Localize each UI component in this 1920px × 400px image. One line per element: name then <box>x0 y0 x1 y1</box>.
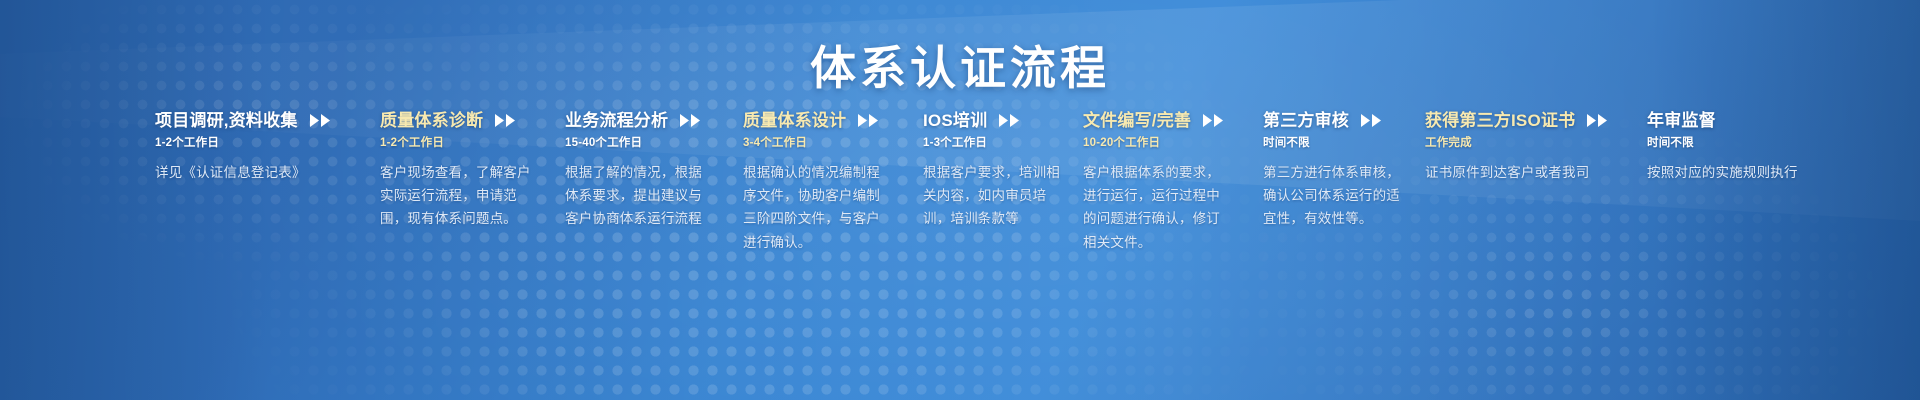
step-9-duration: 时间不限 <box>1647 134 1843 150</box>
step-4-header: 质量体系设计 <box>743 112 919 129</box>
certification-process-banner: 体系认证流程 项目调研,资料收集 1-2个工作日 详见《认证信息登记表》 质量体… <box>0 0 1920 400</box>
step-9-description: 按照对应的实施规则执行 <box>1647 161 1817 184</box>
page-title: 体系认证流程 <box>0 32 1920 98</box>
step-7-header: 第三方审核 <box>1263 112 1421 129</box>
step-3-duration: 15-40个工作日 <box>565 134 739 150</box>
step-3-description: 根据了解的情况，根据体系要求，提出建议与客户协商体系运行流程 <box>565 161 715 231</box>
step-1-title: 项目调研,资料收集 <box>155 112 298 129</box>
process-steps-row: 项目调研,资料收集 1-2个工作日 详见《认证信息登记表》 质量体系诊断 1-2… <box>0 112 1920 382</box>
step-5-header: IOS培训 <box>923 112 1079 129</box>
step-6-header: 文件编写/完善 <box>1083 112 1259 129</box>
step-6-title: 文件编写/完善 <box>1083 112 1191 129</box>
step-5-title: IOS培训 <box>923 112 987 129</box>
step-4-duration: 3-4个工作日 <box>743 134 919 150</box>
process-step-1: 项目调研,资料收集 1-2个工作日 详见《认证信息登记表》 <box>155 112 380 184</box>
step-8-title: 获得第三方ISO证书 <box>1425 112 1575 129</box>
step-8-description: 证书原件到达客户或者我司 <box>1425 161 1600 184</box>
process-step-4: 质量体系设计 3-4个工作日 根据确认的情况编制程序文件，协助客户编制三阶四阶文… <box>743 112 923 254</box>
step-8-header: 获得第三方ISO证书 <box>1425 112 1643 129</box>
step-7-duration: 时间不限 <box>1263 134 1421 150</box>
process-step-8: 获得第三方ISO证书 工作完成 证书原件到达客户或者我司 <box>1425 112 1647 184</box>
step-7-title: 第三方审核 <box>1263 112 1349 129</box>
step-2-description: 客户现场查看，了解客户实际运行流程，申请范围，现有体系问题点。 <box>380 161 535 231</box>
step-2-header: 质量体系诊断 <box>380 112 561 129</box>
process-step-6: 文件编写/完善 10-20个工作日 客户根据体系的要求，进行运行，运行过程中的问… <box>1083 112 1263 254</box>
step-2-duration: 1-2个工作日 <box>380 134 561 150</box>
double-chevron-right-icon <box>310 114 332 127</box>
step-1-description: 详见《认证信息登记表》 <box>155 161 315 184</box>
step-4-description: 根据确认的情况编制程序文件，协助客户编制三阶四阶文件，与客户进行确认。 <box>743 161 893 254</box>
step-1-header: 项目调研,资料收集 <box>155 112 376 129</box>
step-2-title: 质量体系诊断 <box>380 112 483 129</box>
step-5-duration: 1-3个工作日 <box>923 134 1079 150</box>
step-6-duration: 10-20个工作日 <box>1083 134 1259 150</box>
step-1-duration: 1-2个工作日 <box>155 134 376 150</box>
double-chevron-right-icon <box>858 114 880 127</box>
double-chevron-right-icon <box>1361 114 1383 127</box>
double-chevron-right-icon <box>999 114 1021 127</box>
step-7-description: 第三方进行体系审核，确认公司体系运行的适宜性，有效性等。 <box>1263 161 1406 231</box>
double-chevron-right-icon <box>1587 114 1609 127</box>
step-3-header: 业务流程分析 <box>565 112 739 129</box>
process-step-5: IOS培训 1-3个工作日 根据客户要求，培训相关内容，如内审员培训，培训条款等 <box>923 112 1083 231</box>
step-6-description: 客户根据体系的要求，进行运行，运行过程中的问题进行确认，修订相关文件。 <box>1083 161 1233 254</box>
double-chevron-right-icon <box>680 114 702 127</box>
step-3-title: 业务流程分析 <box>565 112 668 129</box>
process-step-3: 业务流程分析 15-40个工作日 根据了解的情况，根据体系要求，提出建议与客户协… <box>565 112 743 231</box>
step-9-header: 年审监督 <box>1647 112 1843 129</box>
process-step-7: 第三方审核 时间不限 第三方进行体系审核，确认公司体系运行的适宜性，有效性等。 <box>1263 112 1425 231</box>
step-5-description: 根据客户要求，培训相关内容，如内审员培训，培训条款等 <box>923 161 1063 231</box>
step-4-title: 质量体系设计 <box>743 112 846 129</box>
step-9-title: 年审监督 <box>1647 112 1716 129</box>
double-chevron-right-icon <box>495 114 517 127</box>
process-step-2: 质量体系诊断 1-2个工作日 客户现场查看，了解客户实际运行流程，申请范围，现有… <box>380 112 565 231</box>
process-step-9: 年审监督 时间不限 按照对应的实施规则执行 <box>1647 112 1847 184</box>
step-8-duration: 工作完成 <box>1425 134 1643 150</box>
double-chevron-right-icon <box>1203 114 1225 127</box>
